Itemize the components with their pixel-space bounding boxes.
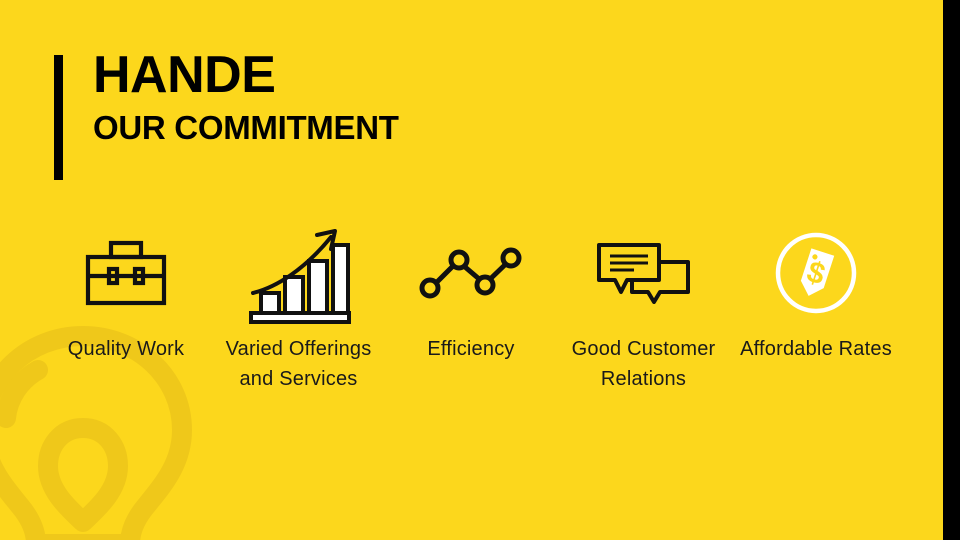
- briefcase-icon: [85, 218, 167, 328]
- page-title: HANDE: [93, 49, 275, 101]
- item-affordable-rates: $ Affordable Rates: [730, 218, 902, 364]
- right-edge-strip: [943, 0, 960, 540]
- item-label: Efficiency: [427, 334, 514, 364]
- item-label: Quality Work: [68, 334, 185, 364]
- page-subtitle: OUR COMMITMENT: [93, 111, 399, 144]
- item-customer-relations: Good Customer Relations: [558, 218, 730, 394]
- price-tag-circle-icon: $: [774, 218, 858, 328]
- bar-chart-growth-icon: [247, 218, 351, 328]
- item-varied-offerings: Varied Offerings and Services: [213, 218, 385, 394]
- item-label: Affordable Rates: [740, 334, 892, 364]
- line-chart-icon: [418, 218, 524, 328]
- header-block: HANDE OUR COMMITMENT: [54, 49, 654, 184]
- item-label: Good Customer Relations: [558, 334, 730, 394]
- item-label: Varied Offerings and Services: [213, 334, 385, 394]
- item-efficiency: Efficiency: [385, 218, 557, 364]
- accent-bar: [54, 55, 63, 180]
- item-quality-work: Quality Work: [40, 218, 212, 364]
- slide-canvas: HANDE OUR COMMITMENT Quality Work: [0, 0, 960, 540]
- speech-bubbles-icon: [596, 218, 692, 328]
- commitment-items: Quality Work Varied Offerings and Ser: [40, 218, 902, 433]
